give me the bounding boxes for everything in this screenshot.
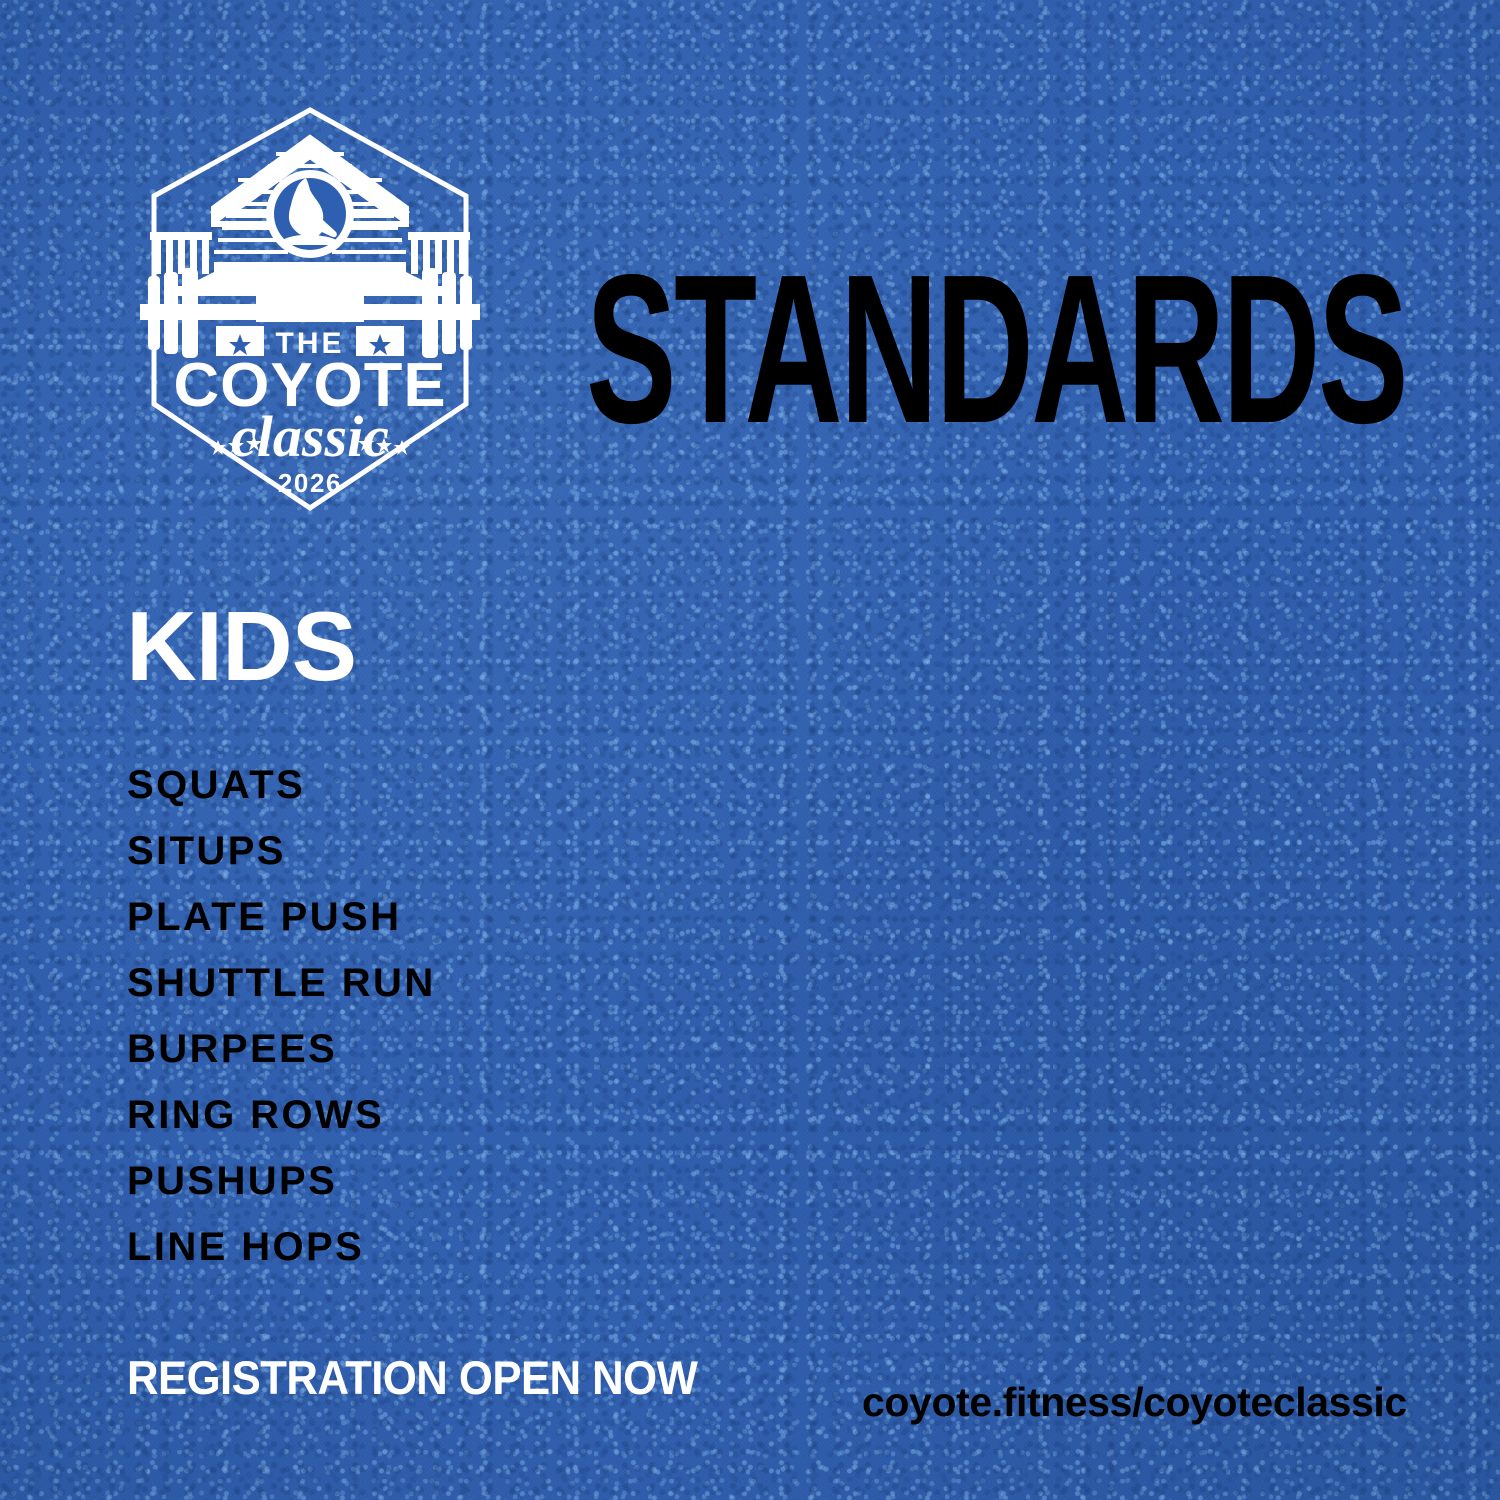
list-item: SITUPS: [127, 818, 727, 884]
coyote-classic-logo: THE COYOTE classic 2026: [110, 104, 510, 514]
movement-list: SQUATS SITUPS PLATE PUSH SHUTTLE RUN BUR…: [127, 752, 727, 1280]
page-title: STANDARDS: [586, 244, 1406, 456]
standards-title-art: STANDARDS: [586, 244, 1406, 456]
svg-text:classic: classic: [231, 404, 389, 469]
standards-title-text: STANDARDS: [586, 244, 1406, 456]
list-item: BURPEES: [127, 1016, 727, 1082]
svg-text:2026: 2026: [278, 468, 342, 498]
list-item: LINE HOPS: [127, 1214, 727, 1280]
registration-status: REGISTRATION OPEN NOW: [127, 1352, 697, 1404]
list-item: SQUATS: [127, 752, 727, 818]
list-item: RING ROWS: [127, 1082, 727, 1148]
list-item: PUSHUPS: [127, 1148, 727, 1214]
list-item: PLATE PUSH: [127, 884, 727, 950]
website-url[interactable]: coyote.fitness/coyoteclassic: [862, 1378, 1407, 1426]
list-item: SHUTTLE RUN: [127, 950, 727, 1016]
poster-canvas: THE COYOTE classic 2026: [0, 0, 1500, 1500]
logo-badge-icon: THE COYOTE classic 2026: [110, 104, 510, 514]
division-heading: KIDS: [126, 597, 356, 695]
